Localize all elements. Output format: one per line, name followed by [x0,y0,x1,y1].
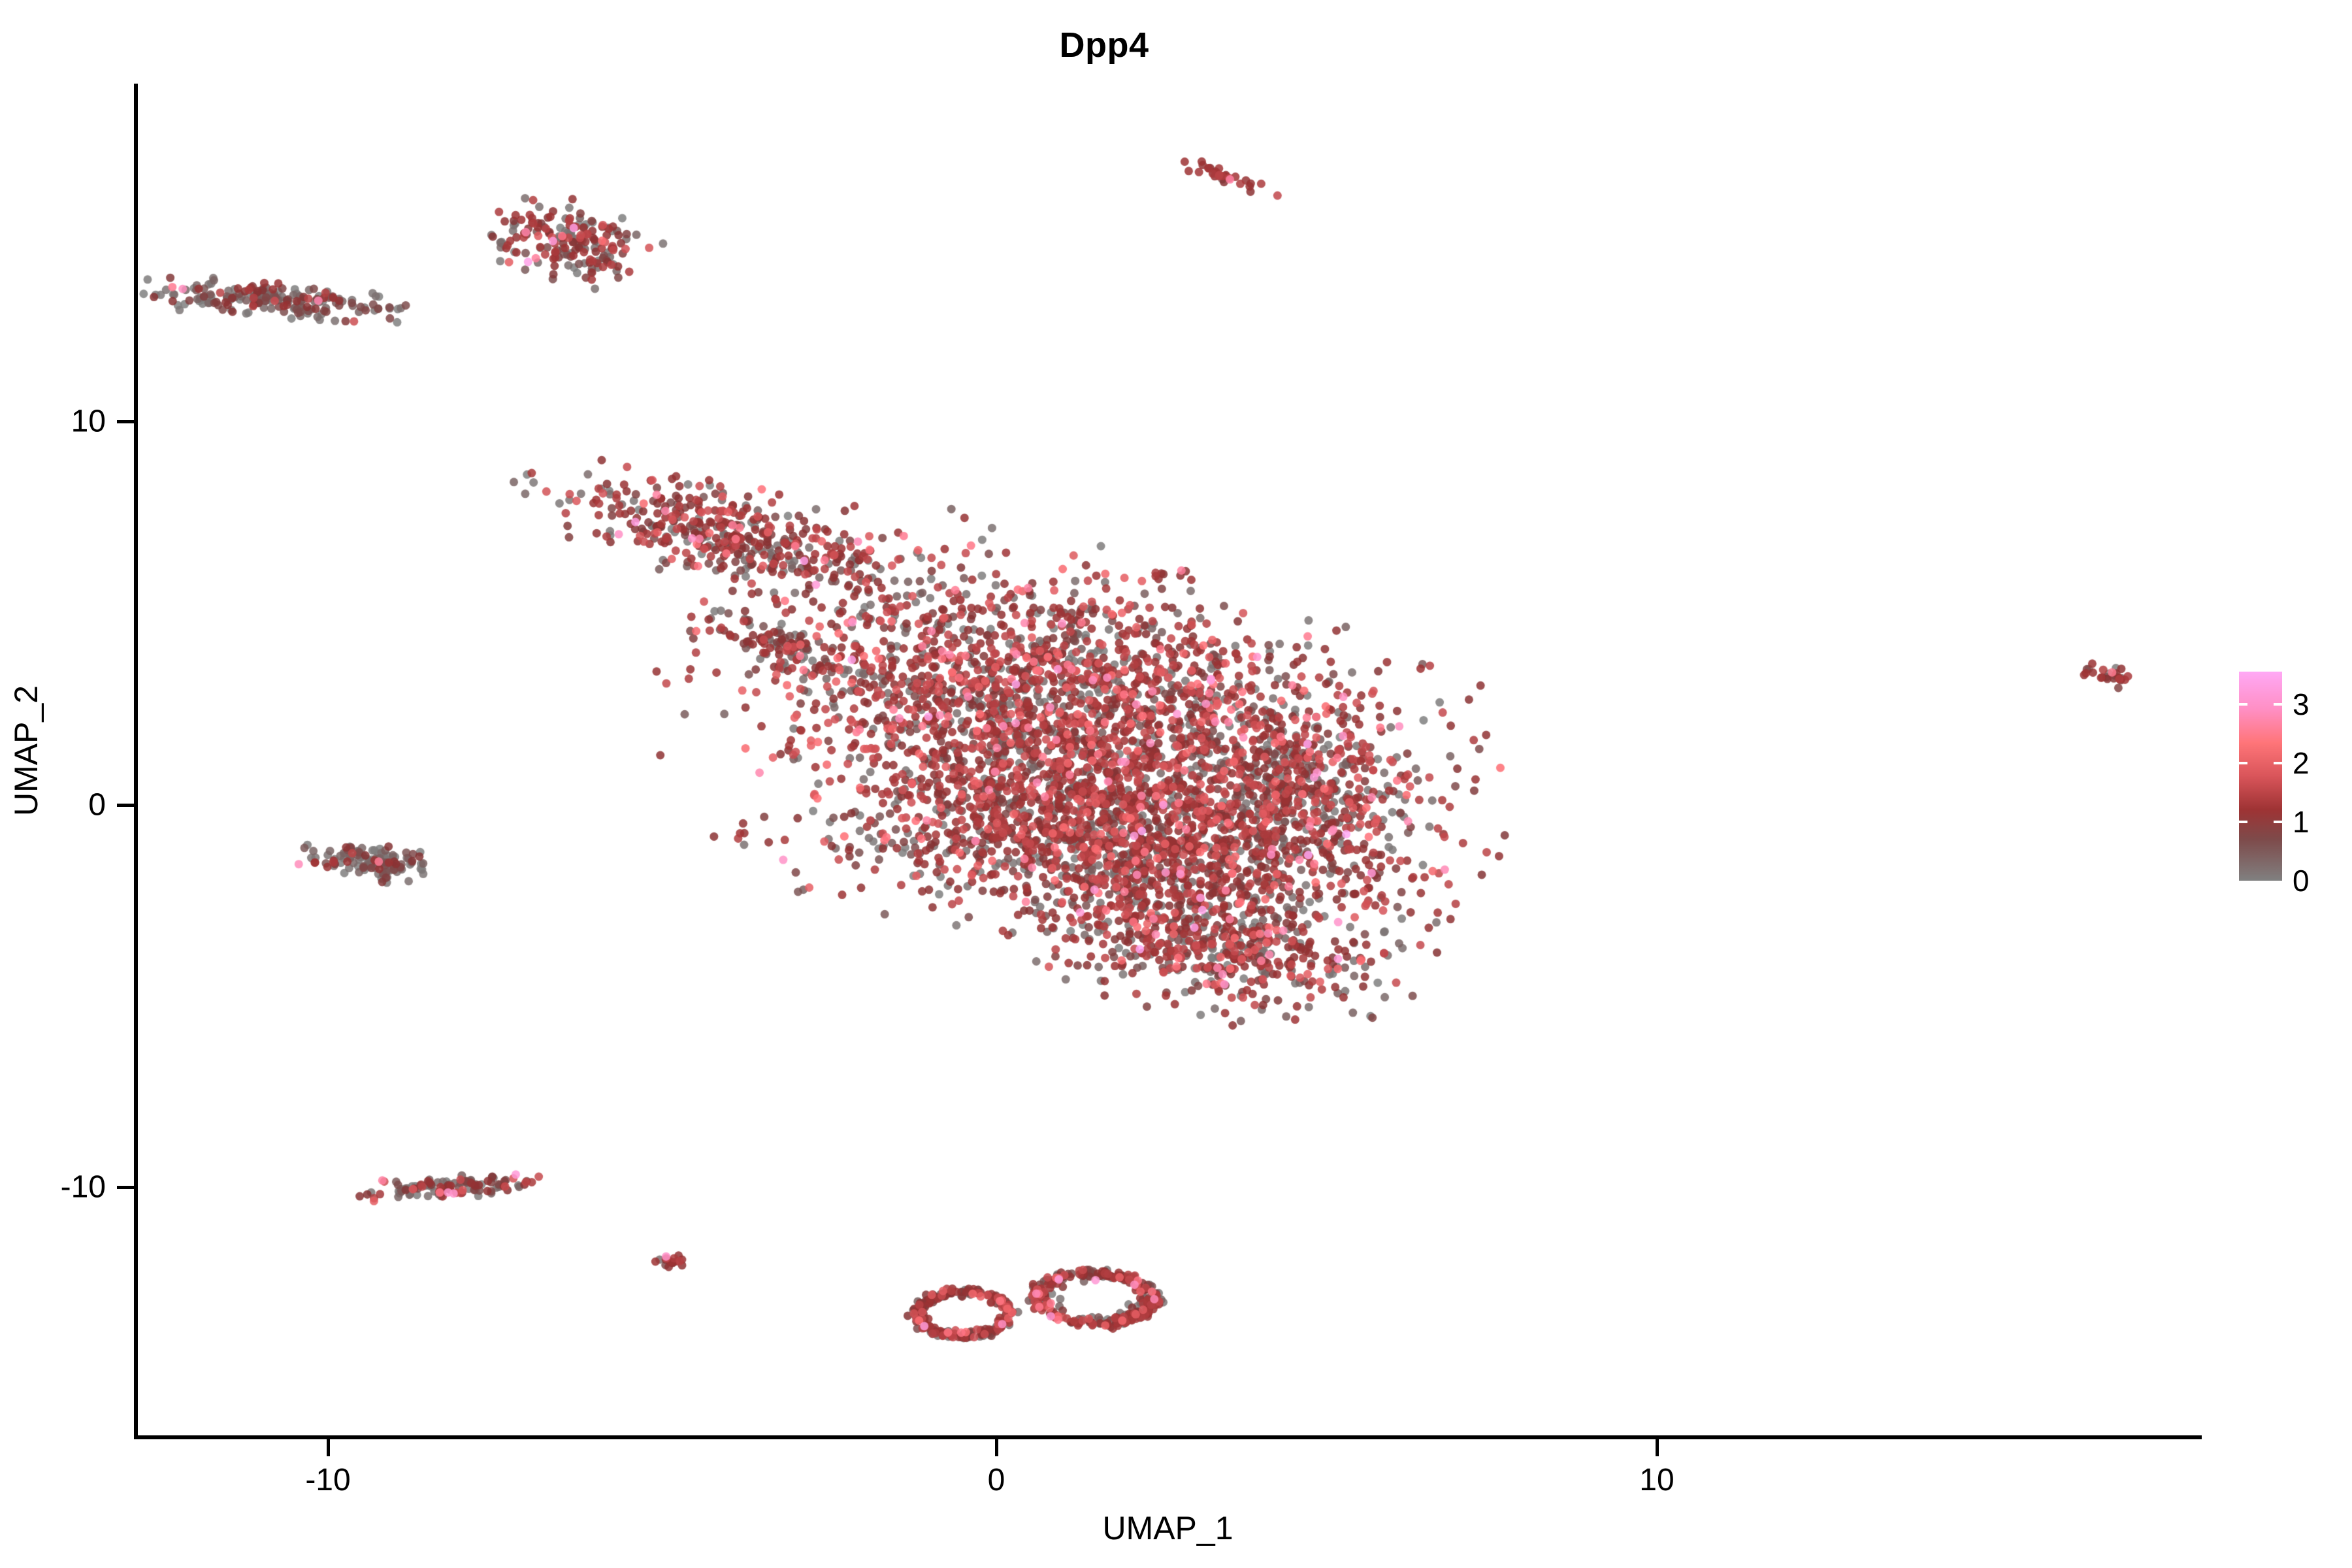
y-tick-mark [117,804,134,807]
y-tick-mark [117,1186,134,1189]
y-axis-title: UMAP_2 [7,424,45,1077]
y-tick-mark [117,420,134,423]
legend-label: 2 [2293,745,2310,781]
x-tick-mark [327,1439,330,1456]
legend-label: 1 [2293,804,2310,840]
legend-tick-left [2239,762,2247,764]
legend-tick-right [2274,762,2282,764]
legend-tick-left [2239,821,2247,823]
x-tick-label: 10 [1639,1462,1674,1498]
x-tick-label: -10 [305,1462,350,1498]
scatter-points-layer [134,84,2198,1437]
umap-scatter-figure: Dpp4 -10010 100-10 UMAP_1 UMAP_2 3210 [0,0,2352,1568]
page-title: Dpp4 [0,0,2208,63]
x-axis-line [134,1435,2202,1439]
x-axis-title: UMAP_1 [134,1509,2202,1547]
x-tick-mark [995,1439,998,1456]
y-axis-line [134,84,138,1439]
legend-tick-right [2274,703,2282,706]
legend-label: 3 [2293,687,2310,722]
x-tick-mark [1656,1439,1659,1456]
legend-tick-right [2274,821,2282,823]
y-tick-label: -10 [0,1169,106,1205]
x-tick-label: 0 [988,1462,1005,1498]
plot-panel [134,84,2198,1437]
legend-tick-left [2239,703,2247,706]
legend-label: 0 [2293,863,2310,898]
